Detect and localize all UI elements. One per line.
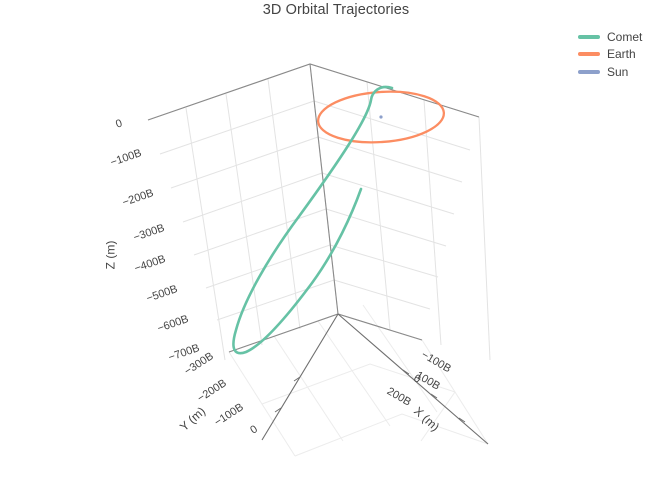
plot-canvas[interactable] (0, 0, 672, 480)
z-axis-title: Z (m) (103, 241, 117, 270)
plot-root: 3D Orbital Trajectories (0, 0, 672, 480)
legend-label-comet: Comet (607, 30, 642, 44)
legend-label-earth: Earth (607, 47, 636, 61)
series-sun (379, 115, 382, 118)
legend-swatch-earth (578, 52, 600, 56)
legend-label-sun: Sun (607, 65, 628, 79)
grid-floor (229, 305, 488, 456)
legend-item-comet[interactable]: Comet (578, 28, 672, 46)
legend-swatch-sun (578, 70, 600, 74)
legend-item-sun[interactable]: Sun (578, 63, 672, 81)
legend[interactable]: Comet Earth Sun (578, 28, 672, 81)
legend-item-earth[interactable]: Earth (578, 46, 672, 64)
legend-swatch-comet (578, 35, 600, 39)
